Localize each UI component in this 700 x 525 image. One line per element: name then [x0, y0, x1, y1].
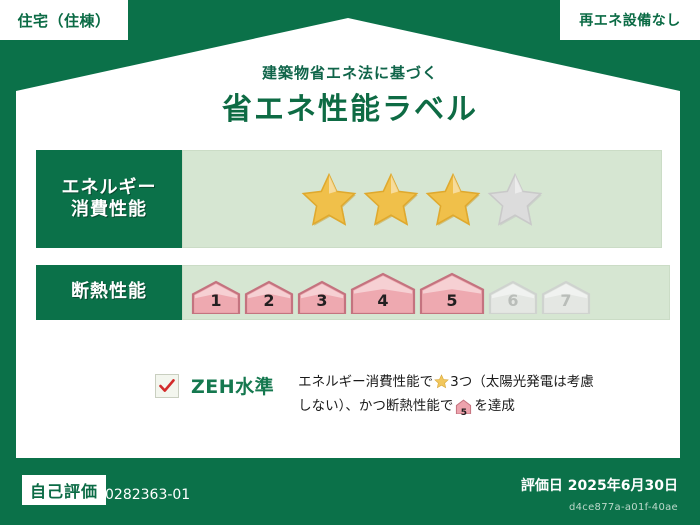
insulation-label-line1: 断熱性能 — [71, 281, 147, 304]
house-level-number: 7 — [541, 291, 591, 310]
zeh-label: ZEH水準 — [191, 372, 274, 399]
house-level-4: 4 — [350, 272, 416, 314]
house-level-number: 3 — [297, 291, 347, 310]
insulation-performance-scale-area: 1234567 — [182, 265, 670, 320]
star-empty-icon — [487, 172, 543, 226]
house-level-number: 1 — [191, 291, 241, 310]
zeh-desc-star-count: 3つ（太陽光発電 — [450, 374, 553, 390]
house-level-7: 7 — [541, 280, 591, 314]
label-title: 省エネ性能ラベル — [0, 84, 700, 128]
renewable-energy-tag: 再エネ設備なし — [560, 0, 700, 40]
house-level-number: 2 — [244, 291, 294, 310]
assessment-date-label: 評価日 — [521, 478, 563, 494]
energy-performance-row: エネルギー 消費性能 — [36, 150, 662, 248]
energy-label-line1: エネルギー — [62, 177, 157, 200]
house-level-scale: 1234567 — [191, 272, 591, 314]
house-level-1: 1 — [191, 280, 241, 314]
zeh-description: エネルギー消費性能で3つ（太陽光発電は考慮しない）、かつ断熱性能で5を達成 — [298, 372, 598, 421]
star-filled-icon — [363, 172, 419, 226]
inline-house-icon: 5 — [455, 399, 472, 421]
energy-performance-label-box: エネルギー 消費性能 — [36, 150, 182, 248]
house-level-3: 3 — [297, 280, 347, 314]
inline-house-level: 5 — [455, 407, 472, 421]
zeh-checkbox — [155, 374, 179, 398]
label-hash: d4ce877a-a01f-40ae — [569, 502, 678, 513]
house-level-number: 5 — [419, 291, 485, 310]
insulation-performance-row: 断熱性能 1234567 — [36, 265, 670, 320]
house-level-6: 6 — [488, 280, 538, 314]
assessment-date: 評価日 2025年6月30日 — [521, 475, 678, 495]
house-level-5: 5 — [419, 272, 485, 314]
inline-star-icon — [434, 374, 449, 396]
star-filled-icon — [425, 172, 481, 226]
assessment-type-tag: 自己評価 — [22, 475, 106, 505]
zeh-desc-part3: を達成 — [474, 398, 515, 414]
house-level-number: 6 — [488, 291, 538, 310]
label-subtitle: 建築物省エネ法に基づく — [0, 62, 700, 83]
energy-performance-label: 住宅（住棟） 再エネ設備なし 建築物省エネ法に基づく 省エネ性能ラベル エネルギ… — [0, 0, 700, 525]
assessment-id: 0282363-01 — [105, 487, 190, 503]
insulation-performance-label-box: 断熱性能 — [36, 265, 182, 320]
house-level-2: 2 — [244, 280, 294, 314]
house-level-number: 4 — [350, 291, 416, 310]
label-footer: 自己評価 0282363-01 評価日 2025年6月30日 d4ce877a-… — [0, 465, 700, 525]
star-filled-icon — [301, 172, 357, 226]
zeh-desc-part1: エネルギー消費性能で — [298, 374, 433, 390]
star-rating — [301, 172, 543, 226]
check-icon — [158, 377, 176, 395]
zeh-standard-block: ZEH水準 エネルギー消費性能で3つ（太陽光発電は考慮しない）、かつ断熱性能で5… — [155, 372, 598, 421]
building-type-tag: 住宅（住棟） — [0, 0, 128, 40]
assessment-date-value: 2025年6月30日 — [568, 478, 678, 494]
energy-label-line2: 消費性能 — [71, 199, 147, 222]
energy-performance-stars-area — [182, 150, 662, 248]
